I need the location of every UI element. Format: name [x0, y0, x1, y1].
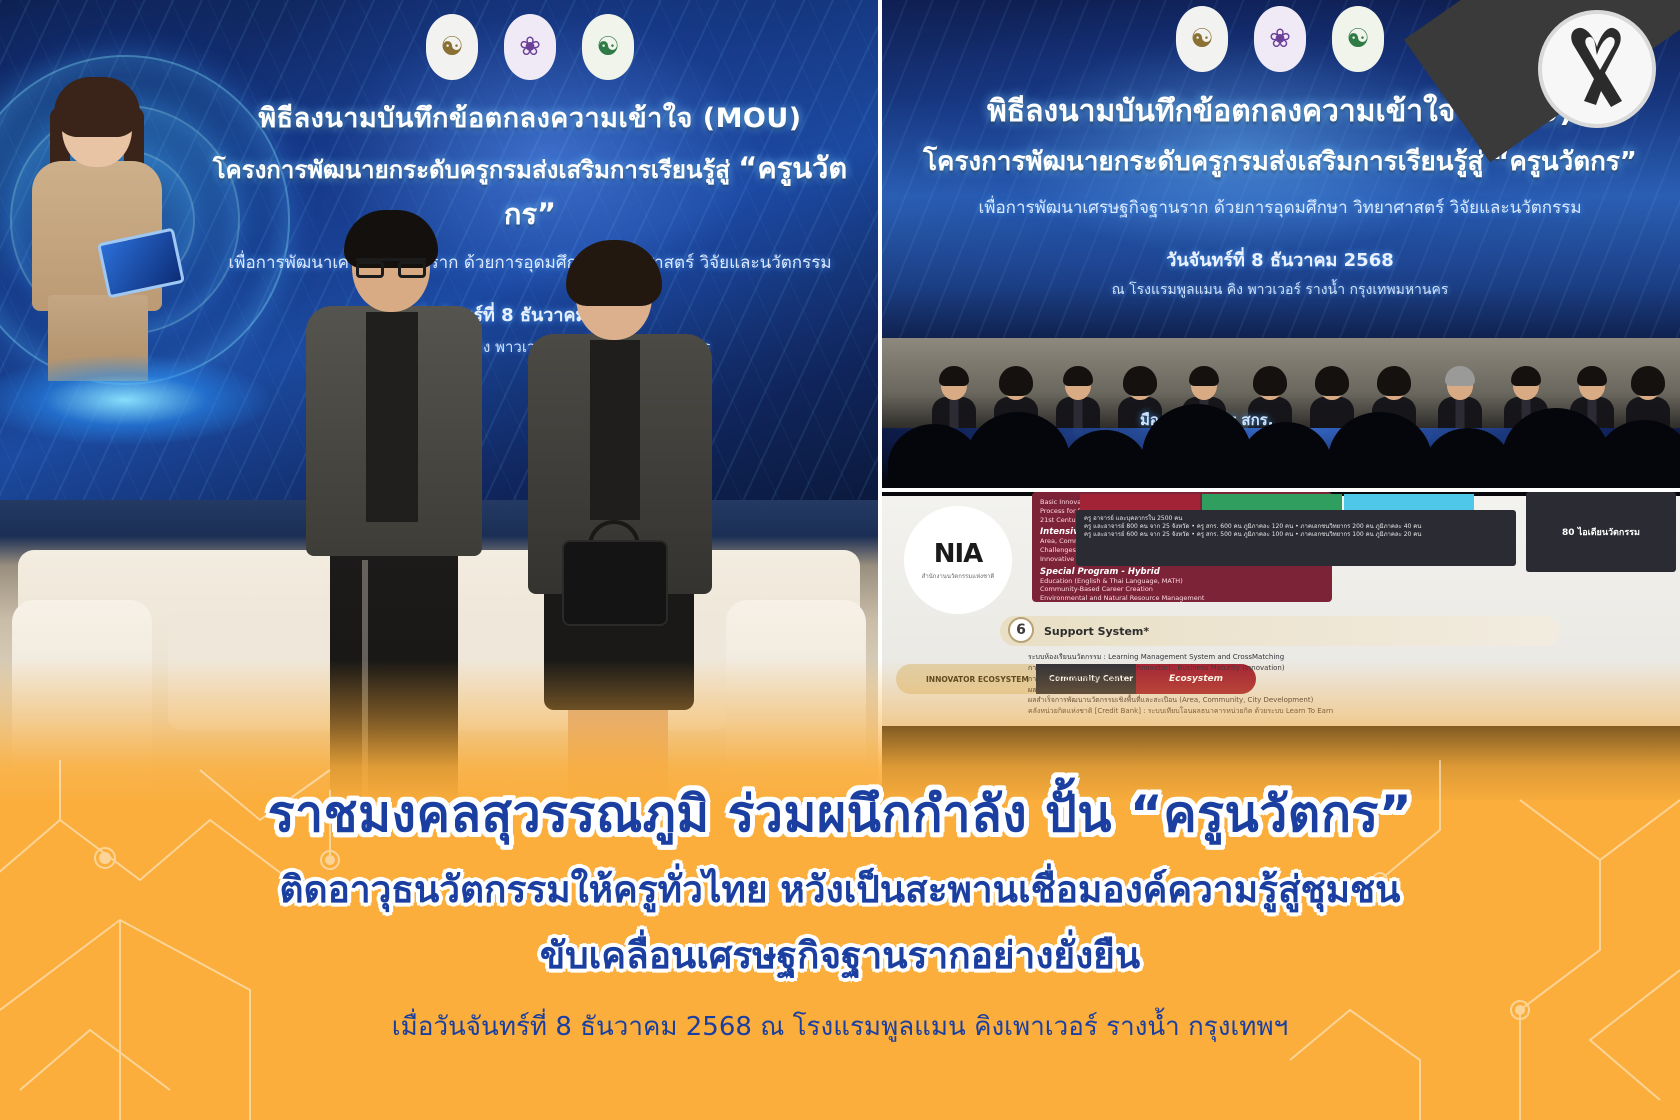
teacher-hologram-standee: [10, 85, 185, 385]
group-lineup: [892, 140, 1668, 370]
photo-collage: ☯ ❀ ☯ พิธีลงนามบันทึกข้อตกลงความเข้าใจ (…: [0, 0, 1680, 800]
crest-gold-icon: ☯: [426, 14, 478, 80]
red-box-head-1: Special Program - Hybrid: [1040, 567, 1324, 577]
crest-green-icon: ☯: [1332, 6, 1384, 72]
crest-row: ☯ ❀ ☯: [210, 14, 850, 80]
page-title: ราชมงคลสุวรรณภูมิ ร่วมผนึกกำลัง ปั้น “คร…: [268, 784, 1413, 844]
dark-box-line-2: ครู และอาจารย์ 600 คน จาก 25 จังหวัด • ค…: [1084, 531, 1508, 539]
slide-right-box: 80 ไอเดียนวัตกรรม: [1526, 492, 1676, 572]
banner-line-2-prefix: โครงการพัฒนายกระดับครูกรมส่งเสริมการเรีย…: [213, 156, 739, 184]
red-box-head-1-item-2: Environmental and Natural Resource Manag…: [1040, 594, 1324, 603]
crest-purple-icon: ❀: [504, 14, 556, 80]
red-box-head-1-item-1: Community-Based Career Creation: [1040, 585, 1324, 594]
support-system-bar: Support System*: [1000, 616, 1560, 646]
dark-box-line-1: ครู และอาจารย์ 800 คน จาก 25 จังหวัด • ค…: [1084, 523, 1508, 531]
caption-area: ราชมงคลสุวรรณภูมิ ร่วมผนึกกำลัง ปั้น “คร…: [0, 760, 1680, 1120]
audience-silhouettes: [880, 380, 1680, 490]
red-box-head-1-item-0: Education (English & Thai Language, MATH…: [1040, 577, 1324, 586]
nia-logo: NIA สำนักงานนวัตกรรมแห่งชาติ: [904, 506, 1012, 614]
dark-box-line-0: ครู อาจารย์ และบุคลากรใน 2500 คน: [1084, 515, 1508, 523]
slide-right-box-text: 80 ไอเดียนวัตกรรม: [1562, 525, 1640, 539]
mourning-ribbon-badge: [1538, 10, 1656, 128]
subhead-line-1: ติดอาวุธนวัตกรรมให้ครูทั่วไทย หวังเป็นสะ…: [280, 866, 1401, 914]
caption-footer: เมื่อวันจันทร์ที่ 8 ธันวาคม 2568 ณ โรงแร…: [392, 1006, 1288, 1047]
section-6-number: 6: [1008, 617, 1034, 643]
divider-horizontal: [880, 488, 1680, 492]
news-poster: ☯ ❀ ☯ พิธีลงนามบันทึกข้อตกลงความเข้าใจ (…: [0, 0, 1680, 1120]
banner-line-1: พิธีลงนามบันทึกข้อตกลงความเข้าใจ (MOU): [210, 96, 850, 139]
crest-purple-icon: ❀: [1254, 6, 1306, 72]
slide-dark-box: ครู อาจารย์ และบุคลากรใน 2500 คน ครู และ…: [1076, 510, 1516, 566]
crest-gold-icon: ☯: [1176, 6, 1228, 72]
subhead-line-2: ขับเคลื่อนเศรษฐกิจฐานรากอย่างยั่งยืน: [540, 932, 1140, 980]
crest-green-icon: ☯: [582, 14, 634, 80]
support-system-label: Support System*: [1044, 625, 1149, 638]
nia-logo-subtitle: สำนักงานนวัตกรรมแห่งชาติ: [922, 571, 995, 581]
nia-logo-text: NIA: [934, 539, 983, 569]
black-ribbon-icon: [1560, 23, 1634, 115]
